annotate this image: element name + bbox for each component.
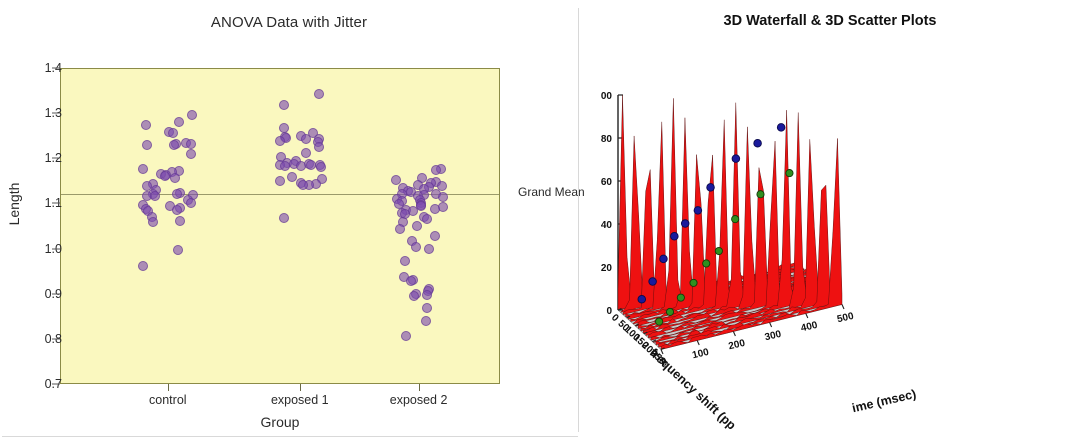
- scatter-point-blue: [649, 278, 657, 286]
- x-tick-mark: [697, 341, 699, 346]
- jitter-point: [172, 189, 182, 199]
- jitter-point: [275, 176, 285, 186]
- x-tick-mark: [842, 305, 844, 310]
- jitter-point: [170, 173, 180, 183]
- panel-divider: [578, 8, 579, 432]
- screenshot-root: ANOVA Data with Jitter Length Grand Mean…: [0, 0, 1080, 442]
- z-tick-label: 0: [606, 306, 612, 317]
- jitter-point: [438, 192, 448, 202]
- jitter-point: [314, 89, 324, 99]
- scatter-point-green: [732, 216, 739, 223]
- x-tick-label: 400: [800, 320, 819, 335]
- y-tick-mark: [52, 338, 60, 339]
- jitter-point: [422, 290, 432, 300]
- x-tick-label: 500: [836, 311, 855, 326]
- y-tick-mark: [52, 113, 60, 114]
- jitter-point: [142, 140, 152, 150]
- jitter-point: [395, 224, 405, 234]
- jitter-point: [430, 204, 440, 214]
- scatter-point-blue: [707, 184, 715, 192]
- waterfall-scatter-panel: 3D Waterfall & 3D Scatter Plots 02040608…: [580, 0, 1080, 442]
- jitter-point: [438, 202, 448, 212]
- jitter-point: [422, 214, 432, 224]
- jitter-point: [150, 191, 160, 201]
- jitter-point: [168, 128, 178, 138]
- jitter-point: [416, 201, 426, 211]
- x-tick-label-2: exposed 2: [359, 393, 479, 407]
- x-tick-label-1: exposed 1: [240, 393, 360, 407]
- plot3d-svg: 020406080000100200300400500ime (msec)050…: [580, 0, 1080, 442]
- anova-plot-area: [60, 68, 500, 384]
- jitter-point: [160, 171, 170, 181]
- x-tick-label: 300: [764, 329, 783, 344]
- y-tick-mark: [52, 68, 60, 69]
- y-tick-mark: [52, 203, 60, 204]
- x-tick-label: 100: [691, 347, 710, 362]
- jitter-point: [301, 148, 311, 158]
- scatter-point-green: [690, 279, 697, 286]
- anova-x-axis-label: Group: [60, 414, 500, 430]
- x-axis-label: ime (msec): [851, 387, 918, 415]
- scatter-point-green: [757, 191, 764, 198]
- jitter-point: [275, 136, 285, 146]
- anova-chart-title: ANOVA Data with Jitter: [0, 14, 578, 31]
- scatter-point-green: [715, 247, 722, 254]
- z-tick-label: 40: [601, 220, 613, 231]
- jitter-point: [411, 242, 421, 252]
- scatter-point-green: [666, 308, 673, 315]
- jitter-point: [169, 140, 179, 150]
- jitter-point: [409, 291, 419, 301]
- panel-bottom-rule: [2, 436, 578, 437]
- jitter-point: [138, 261, 148, 271]
- x-tick-mark: [770, 323, 772, 328]
- jitter-point: [421, 316, 431, 326]
- scatter-point-green: [786, 170, 793, 177]
- x-tick-mark: [806, 314, 808, 319]
- jitter-point: [187, 110, 197, 120]
- scatter-point-blue: [681, 220, 689, 228]
- jitter-point: [175, 216, 185, 226]
- jitter-point: [287, 172, 297, 182]
- scatter-point-blue: [660, 255, 668, 263]
- y-tick-mark: [52, 248, 60, 249]
- jitter-point: [314, 142, 324, 152]
- scatter-point-blue: [694, 207, 702, 215]
- jitter-point: [279, 100, 289, 110]
- jitter-point: [306, 160, 316, 170]
- jitter-point: [141, 120, 151, 130]
- y-tick-mark: [52, 384, 60, 385]
- jitter-point: [412, 221, 422, 231]
- jitter-point: [186, 149, 196, 159]
- x-tick-mark: [300, 384, 301, 391]
- jitter-point: [186, 139, 196, 149]
- jitter-point: [401, 331, 411, 341]
- scatter-point-green: [677, 294, 684, 301]
- grand-mean-label: Grand Mean: [518, 185, 585, 199]
- jitter-point: [280, 161, 290, 171]
- jitter-point: [174, 117, 184, 127]
- jitter-point: [296, 161, 306, 171]
- scatter-point-blue: [777, 124, 785, 132]
- scatter-point-blue: [732, 155, 740, 163]
- y-tick-mark: [52, 158, 60, 159]
- jitter-point: [430, 231, 440, 241]
- z-tick-label: 00: [601, 91, 613, 102]
- x-tick-label-0: control: [108, 393, 228, 407]
- x-tick-mark: [168, 384, 169, 391]
- jitter-point: [172, 205, 182, 215]
- z-tick-label: 80: [601, 134, 613, 145]
- anova-jitter-panel: ANOVA Data with Jitter Length Grand Mean…: [0, 0, 578, 442]
- z-tick-label: 20: [601, 263, 613, 274]
- jitter-point: [173, 245, 183, 255]
- scatter-point-blue: [638, 295, 646, 303]
- x-tick-mark: [733, 332, 735, 337]
- jitter-point: [148, 217, 158, 227]
- jitter-point: [406, 276, 416, 286]
- jitter-point: [316, 162, 326, 172]
- jitter-point: [424, 244, 434, 254]
- scatter-point-blue: [671, 232, 679, 240]
- jitter-point: [422, 303, 432, 313]
- y-tick-mark: [52, 293, 60, 294]
- z-tick-label: 60: [601, 177, 613, 188]
- x-tick-label: 200: [727, 338, 746, 353]
- scatter-point-green: [656, 318, 663, 325]
- jitter-point: [301, 134, 311, 144]
- scatter-point-blue: [754, 139, 762, 147]
- jitter-point: [400, 256, 410, 266]
- jitter-point: [431, 165, 441, 175]
- scatter-point-green: [703, 260, 710, 267]
- jitter-point: [279, 213, 289, 223]
- plot3d-canvas: 020406080000100200300400500ime (msec)050…: [580, 0, 1080, 442]
- jitter-point: [298, 180, 308, 190]
- jitter-point: [186, 198, 196, 208]
- jitter-point: [138, 164, 148, 174]
- x-tick-mark: [419, 384, 420, 391]
